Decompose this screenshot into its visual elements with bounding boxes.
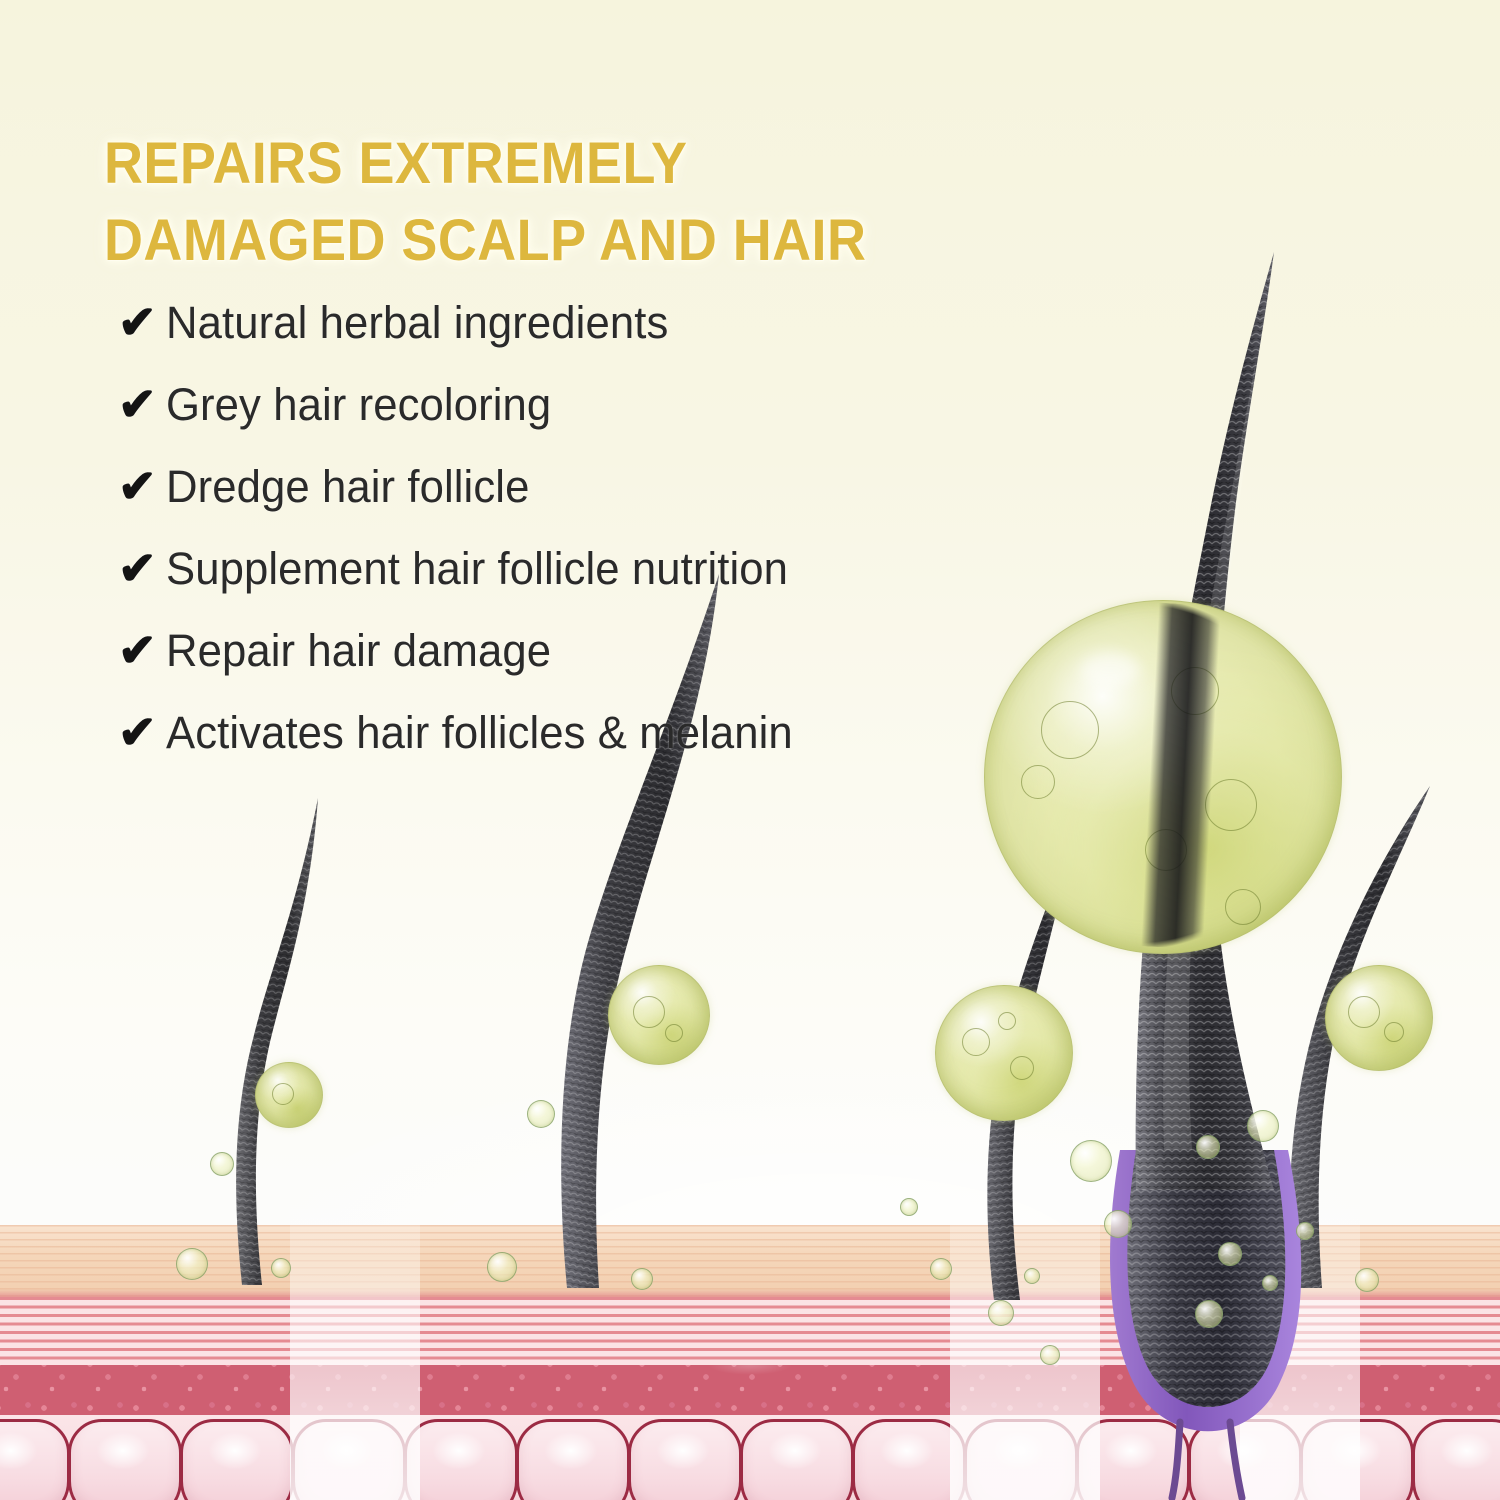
check-icon: ✔ xyxy=(118,299,166,345)
droplet-highlight xyxy=(1081,653,1139,687)
micro-bubble xyxy=(487,1252,517,1282)
fat-cell xyxy=(0,1419,70,1500)
benefit-label: Repair hair damage xyxy=(166,628,973,674)
micro-bubble xyxy=(176,1248,208,1280)
micro-bubble xyxy=(1104,1210,1132,1238)
list-item: ✔ Dredge hair follicle xyxy=(118,464,998,546)
droplet-inner-bubble xyxy=(1348,996,1380,1028)
micro-bubble xyxy=(900,1198,918,1216)
benefit-label: Dredge hair follicle xyxy=(166,464,973,510)
list-item: ✔ Natural herbal ingredients xyxy=(118,300,998,382)
fat-cell xyxy=(68,1419,182,1500)
micro-bubble xyxy=(1296,1222,1314,1240)
fat-cell xyxy=(180,1419,294,1500)
micro-bubble xyxy=(1218,1242,1242,1266)
micro-bubble xyxy=(930,1258,952,1280)
page-title: REPAIRS EXTREMELY DAMAGED SCALP AND HAIR xyxy=(104,126,904,279)
droplet-inner-bubble xyxy=(1041,701,1099,759)
droplet-inner-bubble xyxy=(1010,1056,1034,1080)
check-icon: ✔ xyxy=(118,545,166,591)
micro-bubble xyxy=(1070,1140,1112,1182)
list-item: ✔ Grey hair recoloring xyxy=(118,382,998,464)
list-item: ✔ Supplement hair follicle nutrition xyxy=(118,546,998,628)
benefit-list: ✔ Natural herbal ingredients ✔ Grey hair… xyxy=(118,300,998,792)
fat-cell xyxy=(740,1419,854,1500)
micro-bubble xyxy=(1355,1268,1379,1292)
oil-droplet-on-left-hair xyxy=(608,965,710,1065)
check-icon: ✔ xyxy=(118,627,166,673)
micro-bubble xyxy=(1262,1275,1278,1291)
product-infographic: REPAIRS EXTREMELY DAMAGED SCALP AND HAIR… xyxy=(0,0,1500,1500)
fat-cell xyxy=(852,1419,966,1500)
oil-droplet-medium-left xyxy=(935,985,1073,1121)
benefit-label: Natural herbal ingredients xyxy=(166,300,973,346)
oil-droplet-medium-right xyxy=(1325,965,1433,1071)
benefit-label: Activates hair follicles & melanin xyxy=(166,710,973,756)
fat-cell xyxy=(1412,1419,1500,1500)
micro-bubble xyxy=(631,1268,653,1290)
droplet-inner-bubble xyxy=(1225,889,1261,925)
droplet-inner-bubble xyxy=(272,1083,294,1105)
fat-cell xyxy=(404,1419,518,1500)
fat-cell xyxy=(516,1419,630,1500)
micro-bubble xyxy=(1024,1268,1040,1284)
list-item: ✔ Activates hair follicles & melanin xyxy=(118,710,998,792)
droplet-inner-bubble xyxy=(1021,765,1055,799)
micro-bubble xyxy=(988,1300,1014,1326)
micro-bubble xyxy=(1195,1300,1223,1328)
droplet-inner-bubble xyxy=(633,996,665,1028)
micro-bubble xyxy=(1196,1135,1220,1159)
micro-bubble xyxy=(1247,1110,1279,1142)
fat-cell xyxy=(628,1419,742,1500)
oil-droplet-on-far-left-hair xyxy=(255,1062,323,1128)
droplet-inner-bubble xyxy=(1384,1022,1404,1042)
droplet-inner-bubble xyxy=(962,1028,990,1056)
droplet-inner-bubble xyxy=(998,1012,1016,1030)
check-icon: ✔ xyxy=(118,709,166,755)
micro-bubble xyxy=(527,1100,555,1128)
check-icon: ✔ xyxy=(118,381,166,427)
micro-bubble xyxy=(271,1258,291,1278)
micro-bubble xyxy=(210,1152,234,1176)
droplet-inner-bubble xyxy=(1205,779,1257,831)
benefit-label: Grey hair recoloring xyxy=(166,382,973,428)
list-item: ✔ Repair hair damage xyxy=(118,628,998,710)
check-icon: ✔ xyxy=(118,463,166,509)
hair-shaft-left-small xyxy=(150,780,370,1300)
droplet-inner-bubble xyxy=(665,1024,683,1042)
micro-bubble xyxy=(1040,1345,1060,1365)
benefit-label: Supplement hair follicle nutrition xyxy=(166,546,973,592)
fat-cell xyxy=(292,1419,406,1500)
